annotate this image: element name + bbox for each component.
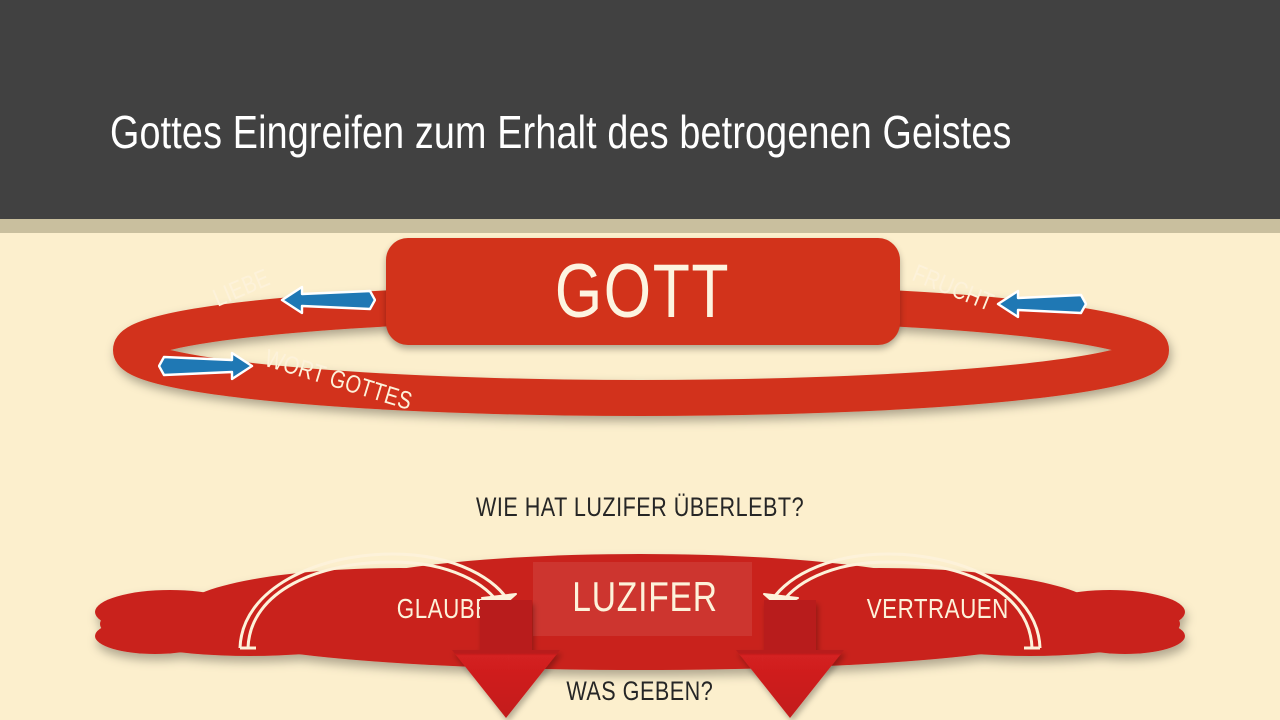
page-title: Gottes Eingreifen zum Erhalt des betroge… — [110, 107, 1004, 158]
arrow-right-icon-wort-gottes — [158, 345, 258, 387]
gott-label: GOTT — [386, 248, 900, 336]
arrow-left-icon-liebe — [276, 279, 376, 321]
gott-box: GOTT — [386, 238, 900, 345]
title-accent-rule — [0, 219, 1280, 233]
question-wie-hat-luzifer-ueberlebt: WIE HAT LUZIFER ÜBERLEBT? — [0, 492, 1280, 523]
slide: Gottes Eingreifen zum Erhalt des betroge… — [0, 0, 1280, 720]
arrow-left-icon-frucht — [992, 283, 1087, 325]
question-was-geben: WAS GEBEN? — [0, 676, 1280, 707]
